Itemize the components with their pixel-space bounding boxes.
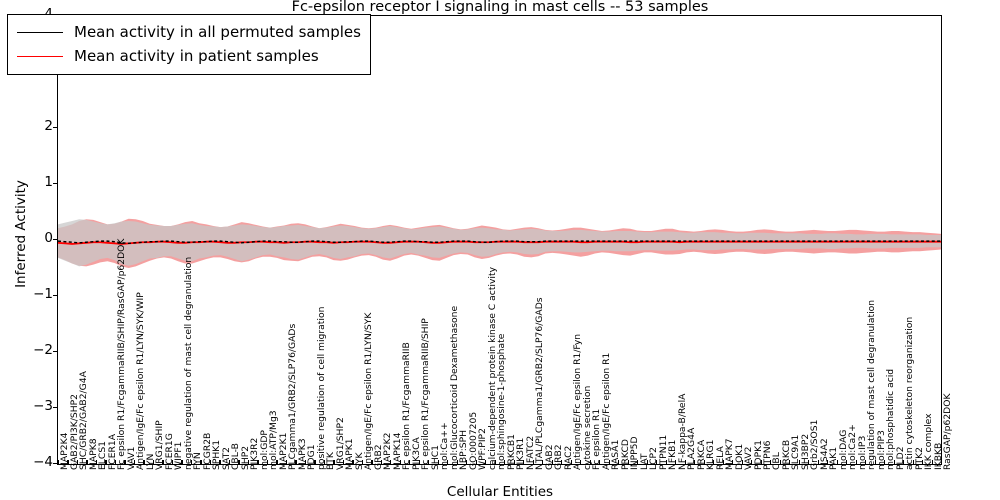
x-tick-label: mol:sphingosine-1-phosphate	[497, 334, 506, 470]
x-tick-label: PLCgamma1/GRB2/SLP76/GADs	[288, 324, 297, 470]
legend-label-patient: Mean activity in patient samples	[74, 47, 319, 65]
x-tick-label: NTAL/PLCgamma1/GRB2/SLP76/GADs	[535, 297, 544, 470]
y-tick-label: −4	[0, 454, 53, 470]
x-tick-label: GRB2	[554, 444, 563, 470]
x-tick-label: MAP2K2	[383, 433, 392, 470]
x-tick-label: MAPK1	[345, 438, 354, 470]
x-tick-label: Antigen/IgE/Fc epsilon R1/Fyn	[573, 334, 582, 470]
x-tick-label: MAPK7	[725, 438, 734, 470]
x-tick-label: RASA1	[611, 440, 620, 470]
x-tick-label: Fc epsilon R1/FcgammaRIIB	[402, 342, 411, 470]
y-tick-label: 1	[0, 174, 53, 190]
legend-entry-patient: Mean activity in patient samples	[17, 44, 361, 68]
chart-figure: Fc-epsilon receptor I signaling in mast …	[0, 0, 1000, 500]
legend-entry-permuted: Mean activity in all permuted samples	[17, 20, 361, 44]
x-tick-label: RasGAP/p62DOK	[943, 394, 952, 471]
x-tick-label: FYN	[193, 452, 202, 470]
chart-title: Fc-epsilon receptor I signaling in mast …	[0, 0, 1000, 15]
x-tick-label: WPF:PIP2	[478, 428, 487, 470]
legend-swatch-patient	[17, 56, 63, 57]
x-tick-label: negative regulation of mast cell degranu…	[184, 257, 193, 470]
x-tick-label: Fc epsilon R1/FcgammaRIIB/SHIP	[421, 318, 430, 470]
y-tick-label: 0	[0, 230, 53, 246]
x-axis-label: Cellular Entities	[0, 484, 1000, 500]
x-tick-label: Fc epsilon R1/FcgammaRIIB/SHIP/RasGAP/p6…	[117, 239, 126, 470]
x-tick-label: Antigen/IgE/Fc epsilon R1/LYN/SYK	[364, 313, 373, 470]
x-tick-label: mol:ATP/Mg3	[269, 410, 278, 470]
x-tick-label: BTK	[326, 452, 335, 470]
x-tick-label: CBL-B	[231, 443, 240, 470]
chart-legend: Mean activity in all permuted samples Me…	[7, 14, 371, 75]
x-tick-label: positive regulation of cell migration	[317, 307, 326, 470]
x-tick-label: mol:Ca++	[440, 422, 449, 470]
x-tick-label: SPHK1	[212, 440, 221, 470]
x-tick-label: Fc epsilon R1	[592, 409, 601, 470]
x-tick-label: VAV2	[744, 446, 753, 470]
y-tick-label: −2	[0, 342, 53, 358]
legend-swatch-permuted	[17, 32, 63, 33]
x-tick-label: PIK3R2	[250, 438, 259, 470]
x-tick-label: WIPF1	[174, 442, 183, 470]
y-tick-label: 2	[0, 118, 53, 134]
x-tick-label: INPP5D	[630, 436, 639, 470]
x-tick-label: NFKB1	[668, 440, 677, 470]
y-tick-label: −3	[0, 398, 53, 414]
x-tick-label: KLRG1	[706, 440, 715, 471]
x-tick-label: PDG1	[307, 444, 316, 470]
legend-label-permuted: Mean activity in all permuted samples	[74, 23, 361, 41]
x-tick-label: VRG1/SHIP	[155, 420, 164, 470]
x-tick-label: Antigen/IgE/Fc epsilon R1/LYN/SYK/WIP	[136, 292, 145, 470]
x-tick-label: LCP2	[649, 447, 658, 470]
x-tick-label: PIK3R1	[516, 438, 525, 470]
y-tick-label: −1	[0, 286, 53, 302]
x-tick-label: NBP:SPH	[459, 430, 468, 470]
x-tick-label: PLA2G4A	[687, 428, 696, 470]
